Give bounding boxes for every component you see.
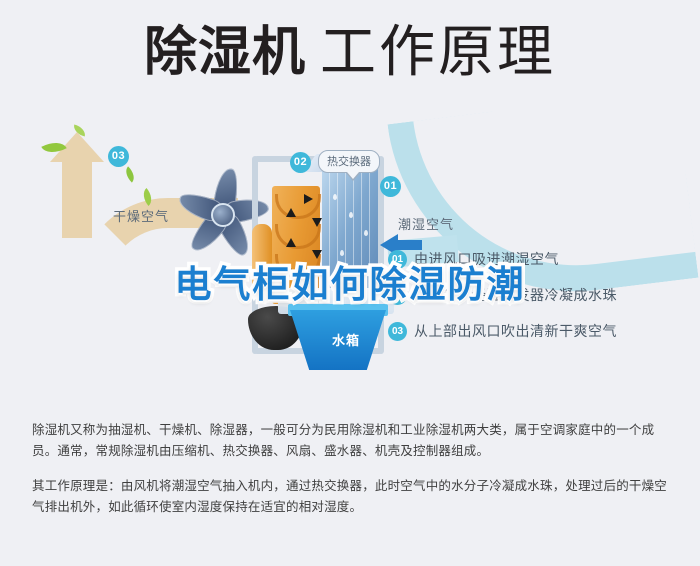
airflow-arrow-down [312,218,322,227]
airflow-arrow-up [286,238,296,247]
body-paragraph-1: 除湿机又称为抽湿机、干燥机、除湿器，一般可分为民用除湿机和工业除湿机两大类，属于… [32,420,672,462]
coil-bend [275,224,321,249]
condensation-droplet [364,230,368,236]
step-label: 从上部出风口吹出清新干爽空气 [414,321,617,341]
badge-03: 03 [108,146,129,167]
dehumidifier-diagram: 干燥空气 [0,110,700,400]
overlay-headline: 电气柜如何除湿防潮 [0,266,700,303]
dehumidifier-unit: 水箱 [248,138,396,378]
heat-exchanger-callout: 热交换器 [318,150,380,173]
water-tank-label: 水箱 [332,330,360,349]
coil-bend [275,194,321,219]
dry-air-label: 干燥空气 [113,206,169,225]
condensation-droplet [333,194,337,200]
airflow-arrow-right [304,194,313,204]
badge-01: 01 [380,176,401,197]
body-paragraph-2: 其工作原理是：由风机将潮湿空气抽入机内，通过热交换器，此时空气中的水分子冷凝成水… [32,476,672,518]
airflow-arrow-up [286,208,296,217]
dry-air-arrow-stem [62,152,92,238]
airflow-arrow-down [312,250,322,259]
article-body: 除湿机又称为抽湿机、干燥机、除湿器，一般可分为民用除湿机和工业除湿机两大类，属于… [32,420,672,518]
step-number: 03 [388,322,407,341]
infographic-page: 除湿机工作原理 干燥空气 [0,0,700,566]
page-title-bold: 除湿机 [144,23,306,82]
page-title-light: 工作原理 [320,20,556,83]
page-title: 除湿机工作原理 [0,24,700,80]
condensation-droplet [349,212,353,218]
badge-02: 02 [290,152,311,173]
fan-hub [211,203,235,227]
leaf-icon [122,166,138,182]
step-item: 03 从上部出风口吹出清新干爽空气 [388,320,688,342]
humid-air-label: 潮湿空气 [398,214,454,233]
condensation-droplet [340,250,344,256]
